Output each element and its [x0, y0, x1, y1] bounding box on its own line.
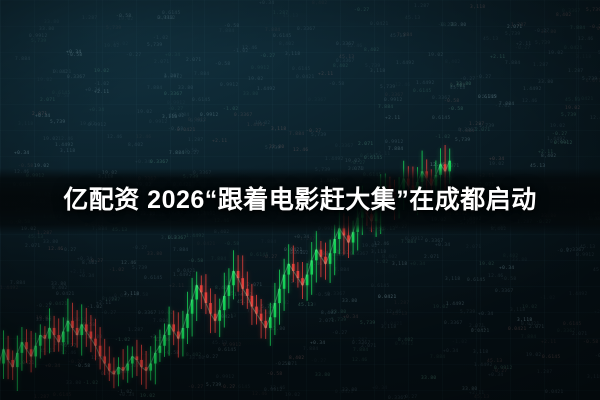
page-title: 亿配资 2026“跟着电影赶大集”在成都启动	[0, 183, 600, 217]
promo-banner: 7.8840.336712.467.88419.022.071-0.270.04…	[0, 0, 600, 400]
